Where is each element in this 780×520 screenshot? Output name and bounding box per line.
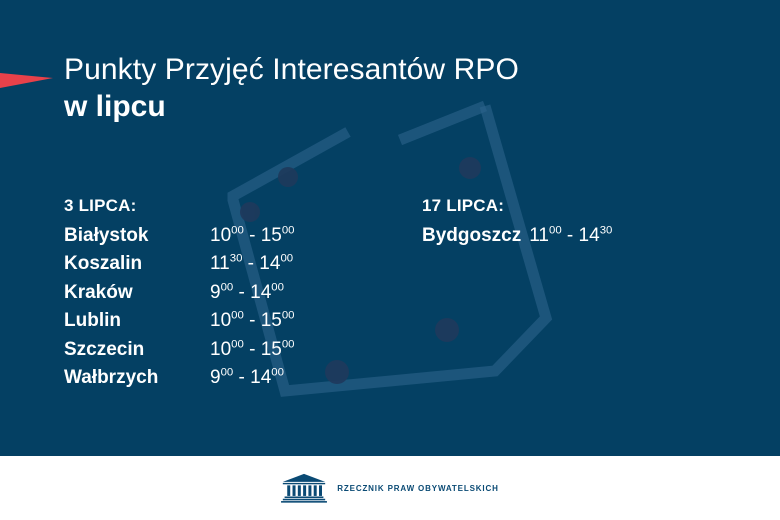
page-title: Punkty Przyjęć Interesantów RPO w lipcu [64, 52, 704, 125]
rpo-logo: RZECZNIK PRAW OBYWATELSKICH [281, 473, 498, 503]
footer-bar: RZECZNIK PRAW OBYWATELSKICH [0, 456, 780, 520]
map-dot [278, 167, 298, 187]
city-name: Białystok [64, 222, 210, 251]
page-title-line-1: Punkty Przyjęć Interesantów RPO [64, 52, 704, 87]
list-item: Białystok 1000 - 1500 [64, 222, 422, 251]
opening-hours: 1130 - 1400 [210, 250, 293, 279]
opening-hours: 1000 - 1500 [210, 222, 295, 251]
schedule-column-17-lipca: 17 LIPCA: Bydgoszcz 1100 - 1430 [422, 193, 722, 393]
page-title-line-2: w lipcu [64, 89, 704, 125]
city-name: Wałbrzych [64, 364, 210, 393]
list-item: Lublin 1000 - 1500 [64, 307, 422, 336]
opening-hours: 900 - 1400 [210, 279, 284, 308]
opening-hours: 900 - 1400 [210, 364, 284, 393]
poster-canvas: Punkty Przyjęć Interesantów RPO w lipcu … [0, 0, 780, 520]
city-name: Szczecin [64, 336, 210, 365]
day-heading: 3 LIPCA: [64, 193, 422, 219]
map-dot [459, 157, 481, 179]
list-item: Szczecin 1000 - 1500 [64, 336, 422, 365]
opening-hours: 1000 - 1500 [210, 307, 295, 336]
rpo-logo-text: RZECZNIK PRAW OBYWATELSKICH [337, 484, 498, 493]
classical-building-icon [281, 473, 327, 503]
city-name: Bydgoszcz [422, 222, 521, 251]
opening-hours: 1000 - 1500 [210, 336, 295, 365]
list-item: Kraków 900 - 1400 [64, 279, 422, 308]
list-item: Koszalin 1130 - 1400 [64, 250, 422, 279]
list-item: Wałbrzych 900 - 1400 [64, 364, 422, 393]
day-heading: 17 LIPCA: [422, 193, 722, 219]
opening-hours: 1100 - 1430 [529, 222, 612, 251]
list-item: Bydgoszcz 1100 - 1430 [422, 222, 722, 251]
city-name: Kraków [64, 279, 210, 308]
city-name: Lublin [64, 307, 210, 336]
red-wedge-accent [0, 55, 60, 95]
schedule-column-3-lipca: 3 LIPCA: Białystok 1000 - 1500 Koszalin … [64, 193, 422, 393]
city-name: Koszalin [64, 250, 210, 279]
schedule: 3 LIPCA: Białystok 1000 - 1500 Koszalin … [64, 193, 724, 393]
